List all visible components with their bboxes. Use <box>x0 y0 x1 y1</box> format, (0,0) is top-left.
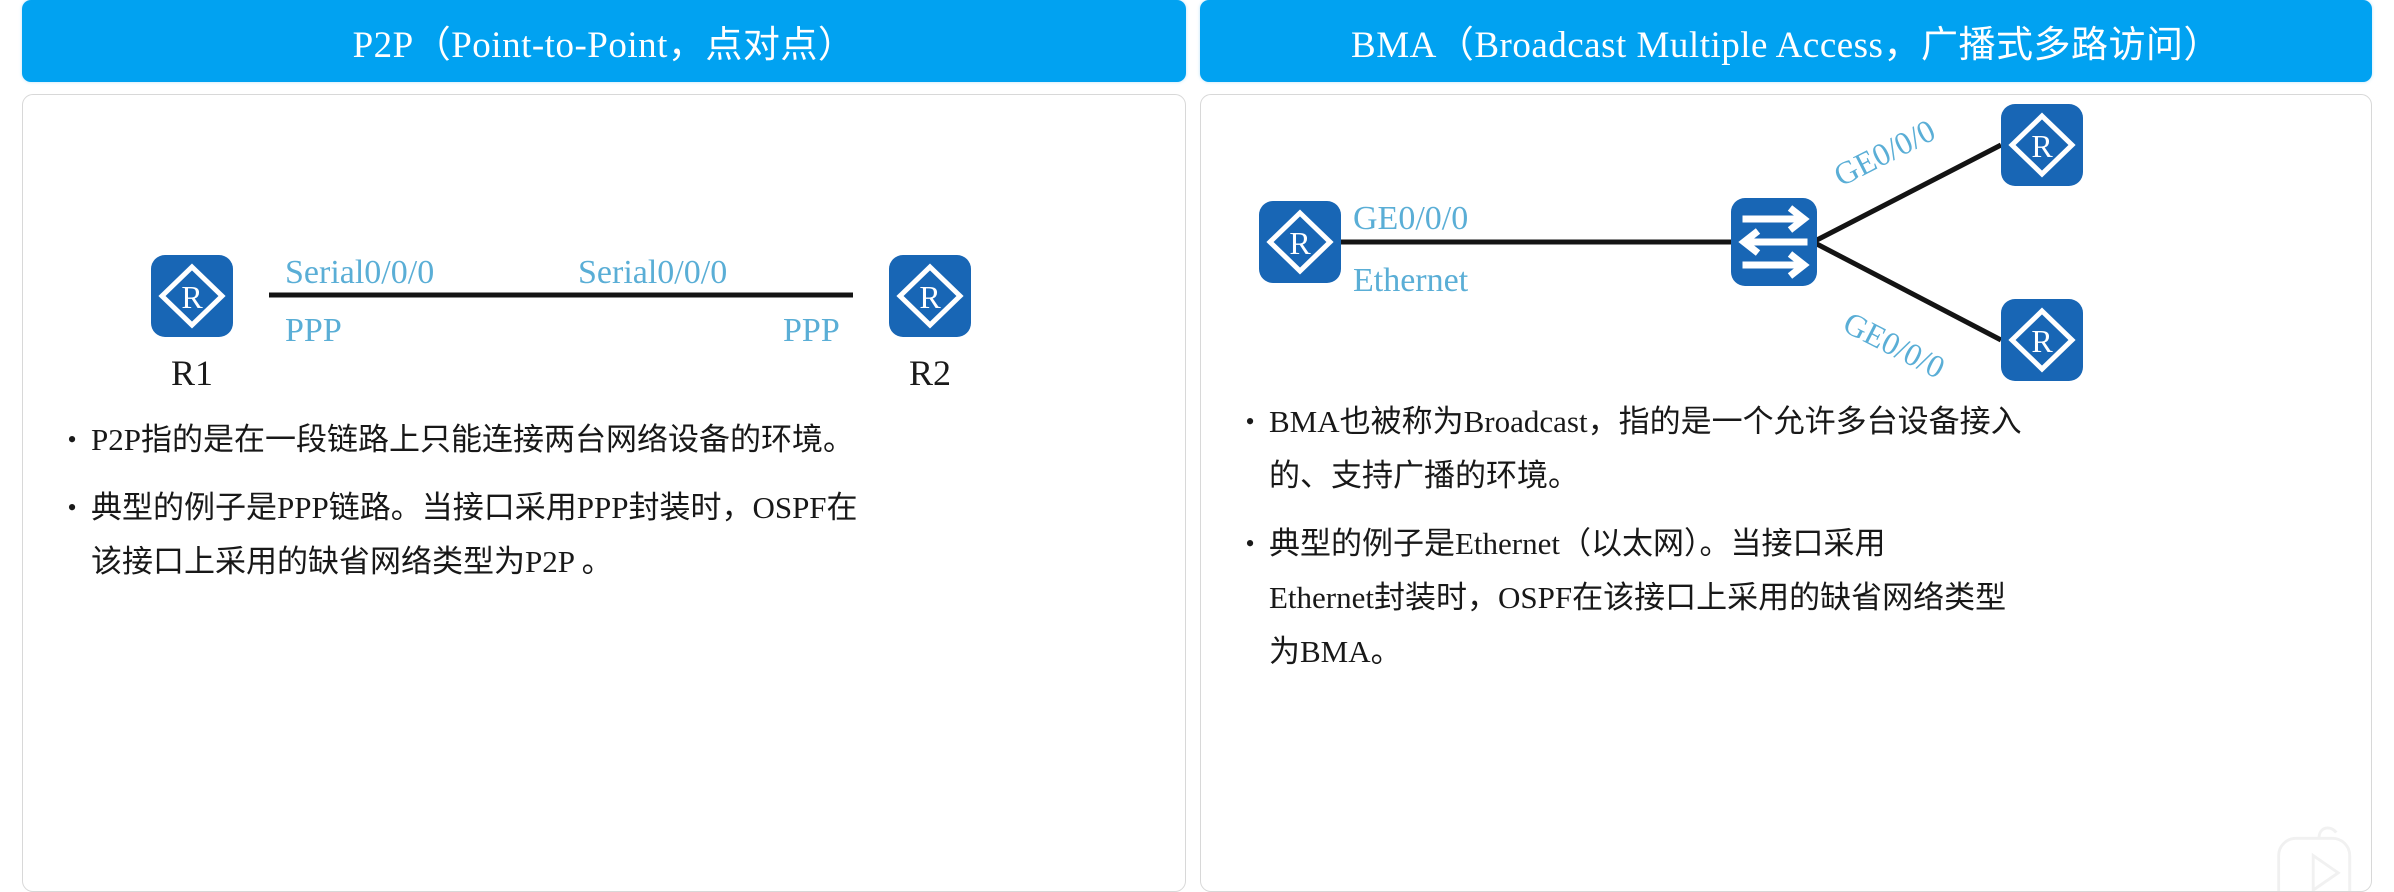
label-serial-left: Serial0/0/0 <box>285 254 434 291</box>
bullet-marker: • <box>1231 395 1269 449</box>
label-ppp-left: PPP <box>285 312 342 349</box>
bullet-item: • BMA也被称为Broadcast，指的是一个允许多台设备接入 的、支持广播的… <box>1231 395 2327 503</box>
label-ge-left: GE0/0/0 <box>1353 200 1468 237</box>
panel-title-bma: BMA（Broadcast Multiple Access，广播式多路访问） <box>1351 14 2221 68</box>
label-serial-right: Serial0/0/0 <box>578 254 727 291</box>
bullet-text: 典型的例子是PPP链路。当接口采用PPP封装时，OSPF在 该接口上采用的缺省网… <box>91 481 858 589</box>
label-ppp-right: PPP <box>783 312 840 349</box>
bullet-item: • 典型的例子是Ethernet（以太网）。当接口采用 Ethernet封装时，… <box>1231 517 2327 679</box>
switch-icon <box>1731 198 1817 286</box>
diagram-p2p: R R Serial0/0/0 PPP Serial0/0/0 PPP R1 <box>23 95 1185 405</box>
device-label-r1: R1 <box>171 353 213 393</box>
panel-body-p2p: R R Serial0/0/0 PPP Serial0/0/0 PPP R1 <box>22 94 1186 892</box>
bullet-item: • 典型的例子是PPP链路。当接口采用PPP封装时，OSPF在 该接口上采用的缺… <box>53 481 1141 589</box>
label-ethernet-left: Ethernet <box>1353 262 1469 299</box>
bullet-text: P2P指的是在一段链路上只能连接两台网络设备的环境。 <box>91 413 854 467</box>
bullet-marker: • <box>53 413 91 467</box>
router-icon: R <box>151 255 233 337</box>
watermark-logo <box>2271 821 2367 892</box>
svg-text:R: R <box>919 279 941 315</box>
device-label-r2: R2 <box>909 353 951 393</box>
bullet-line: 典型的例子是PPP链路。当接口采用PPP封装时，OSPF在 <box>91 490 858 525</box>
bullet-line: 典型的例子是Ethernet（以太网）。当接口采用 <box>1269 526 1886 561</box>
router-icon: R <box>2001 299 2083 381</box>
bullet-item: • P2P指的是在一段链路上只能连接两台网络设备的环境。 <box>53 413 1141 467</box>
svg-text:R: R <box>1289 225 1311 261</box>
svg-text:R: R <box>2031 128 2053 164</box>
bullet-list-p2p: • P2P指的是在一段链路上只能连接两台网络设备的环境。 • 典型的例子是PPP… <box>23 413 1185 603</box>
link-line-switch-router-bottom <box>1813 242 2001 340</box>
panel-bma: BMA（Broadcast Multiple Access，广播式多路访问） <box>1200 0 2372 892</box>
label-ge-upper: GE0/0/0 <box>1828 112 1941 193</box>
router-icon: R <box>1259 201 1341 283</box>
panel-header-bma: BMA（Broadcast Multiple Access，广播式多路访问） <box>1200 0 2372 82</box>
panel-header-p2p: P2P（Point-to-Point，点对点） <box>22 0 1186 82</box>
bullet-marker: • <box>53 481 91 535</box>
bullet-line: 该接口上采用的缺省网络类型为P2P 。 <box>91 544 613 579</box>
bullet-line: Ethernet封装时，OSPF在该接口上采用的缺省网络类型 <box>1269 580 2006 615</box>
panel-body-bma: R <box>1200 94 2372 892</box>
svg-text:R: R <box>181 279 203 315</box>
bullet-list-bma: • BMA也被称为Broadcast，指的是一个允许多台设备接入 的、支持广播的… <box>1201 395 2371 693</box>
router-icon: R <box>889 255 971 337</box>
bullet-line: P2P指的是在一段链路上只能连接两台网络设备的环境。 <box>91 422 854 457</box>
bullet-line: 的、支持广播的环境。 <box>1269 458 1579 493</box>
bullet-marker: • <box>1231 517 1269 571</box>
bullet-line: BMA也被称为Broadcast，指的是一个允许多台设备接入 <box>1269 404 2022 439</box>
label-ge-lower: GE0/0/0 <box>1838 304 1951 385</box>
bullet-text: 典型的例子是Ethernet（以太网）。当接口采用 Ethernet封装时，OS… <box>1269 517 2006 679</box>
bullet-line: 为BMA。 <box>1269 634 1402 669</box>
bullet-text: BMA也被称为Broadcast，指的是一个允许多台设备接入 的、支持广播的环境… <box>1269 395 2022 503</box>
panel-title-p2p: P2P（Point-to-Point，点对点） <box>353 14 856 68</box>
diagram-bma: R <box>1201 95 2371 405</box>
svg-text:R: R <box>2031 323 2053 359</box>
slide-root: P2P（Point-to-Point，点对点） R <box>0 0 2394 892</box>
router-icon: R <box>2001 104 2083 186</box>
panel-p2p: P2P（Point-to-Point，点对点） R <box>22 0 1186 892</box>
